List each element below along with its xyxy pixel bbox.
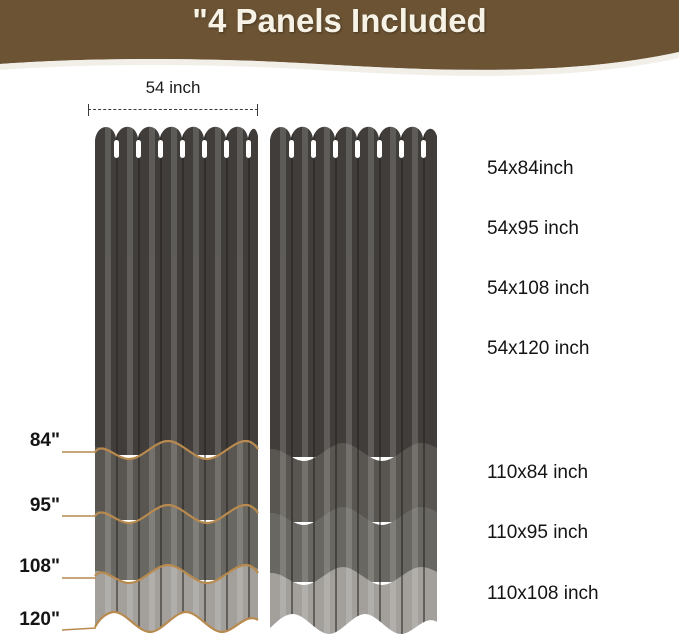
size-option-110x108: 110x108 inch — [487, 583, 599, 605]
ruler-label-120: 120" — [8, 609, 60, 631]
right-curtain-panel — [265, 110, 445, 643]
header-banner: "4 Panels Included — [0, 0, 679, 80]
dimension-tick-left — [88, 104, 89, 116]
ruler-label-95: 95" — [18, 495, 60, 517]
ruler-label-84: 84" — [18, 430, 60, 452]
marker-line-120 — [95, 612, 258, 632]
size-option-54x120: 54x120 inch — [487, 338, 589, 360]
size-option-54x108: 54x108 inch — [487, 278, 589, 300]
page-title: "4 Panels Included — [0, 2, 679, 40]
ruler-label-108: 108" — [8, 556, 60, 578]
size-option-54x84: 54x84inch — [487, 158, 574, 180]
width-dimension-line — [88, 104, 258, 116]
width-dimension-label: 54 inch — [88, 78, 258, 98]
marker-line-95 — [95, 505, 258, 523]
left-curtain-panel — [90, 110, 265, 643]
marker-line-84 — [95, 441, 258, 459]
size-option-110x84: 110x84 inch — [487, 462, 588, 484]
marker-leader-lines — [62, 452, 96, 630]
marker-line-108 — [95, 565, 258, 583]
dimension-dashed-bar — [88, 109, 258, 110]
size-option-110x95: 110x95 inch — [487, 522, 588, 544]
dimension-tick-right — [257, 104, 258, 116]
infographic-root: "4 Panels Included 54 inch — [0, 0, 679, 643]
measurement-marker-lines — [95, 441, 258, 632]
size-option-54x95: 54x95 inch — [487, 218, 579, 240]
